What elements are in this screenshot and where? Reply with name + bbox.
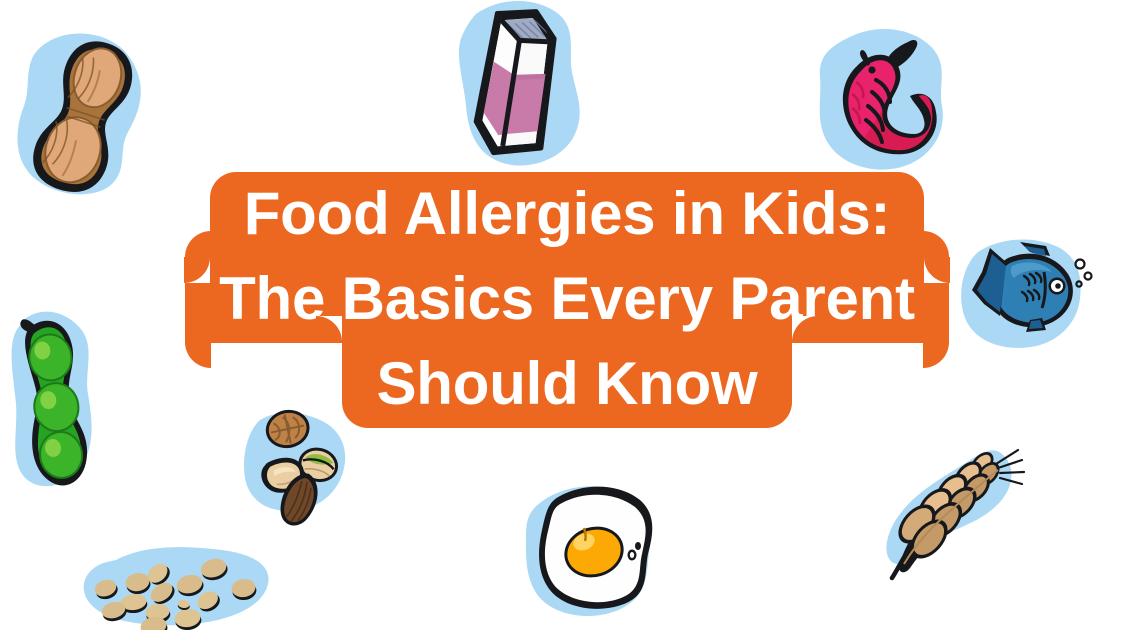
title-line-1-row: Food Allergies in Kids: (0, 172, 1134, 258)
title-line-2-row: The Basics Every Parent (0, 257, 1134, 343)
title-corner-mask (185, 231, 211, 257)
title-corner-mask (792, 316, 818, 342)
fried-egg-icon (516, 476, 666, 628)
sesame-seeds-icon (76, 540, 278, 630)
title-corner-mask (184, 257, 210, 283)
peanut-icon (8, 18, 164, 198)
title-corner-mask (924, 257, 950, 283)
title-line-2: The Basics Every Parent (185, 257, 949, 343)
title-corner-mask (316, 316, 342, 342)
title-corner-mask (185, 342, 211, 368)
title-line-1: Food Allergies in Kids: (210, 172, 925, 258)
title-corner-mask (923, 342, 949, 368)
title-corner-mask (923, 231, 949, 257)
title-line-3-row: Should Know (0, 342, 1134, 428)
page-title: Food Allergies in Kids: The Basics Every… (0, 172, 1134, 428)
graphic-canvas: Food Allergies in Kids: The Basics Every… (0, 0, 1134, 630)
title-line-3: Should Know (342, 342, 791, 428)
wheat-icon (876, 436, 1026, 594)
milk-carton-icon (450, 0, 590, 182)
shrimp-icon (810, 20, 962, 182)
